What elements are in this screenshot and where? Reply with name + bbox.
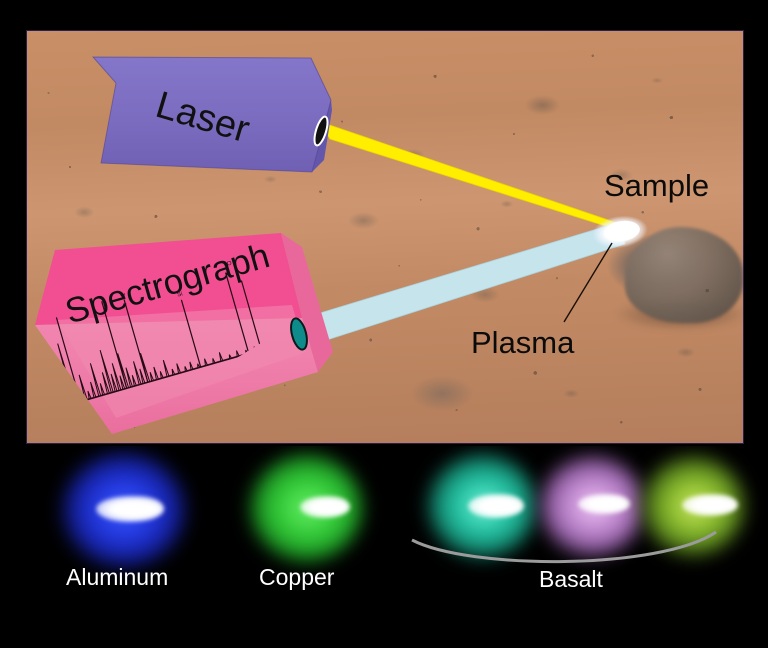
plasma-image-copper — [238, 446, 388, 576]
plasma-caption-basalt: Basalt — [539, 566, 603, 593]
figure-root: Si Si Si Si Si O Sample Plasma Laser Spe… — [0, 0, 768, 648]
sample-rock — [625, 227, 743, 323]
plasma-caption-copper: Copper — [259, 564, 334, 591]
plasma-core — [300, 496, 350, 518]
plasma-caption-aluminum: Aluminum — [66, 564, 168, 591]
plasma-label: Plasma — [471, 325, 574, 361]
plasma-photo-strip: Aluminum Copper Basalt Sirven et al., JA… — [0, 446, 768, 648]
plasma-core — [578, 494, 630, 514]
plasma-core — [468, 494, 524, 518]
sample-label: Sample — [604, 168, 709, 204]
plasma-core — [96, 496, 164, 522]
mars-surface-photo — [26, 30, 744, 444]
plasma-image-aluminum — [52, 446, 202, 576]
plasma-core — [682, 494, 738, 516]
